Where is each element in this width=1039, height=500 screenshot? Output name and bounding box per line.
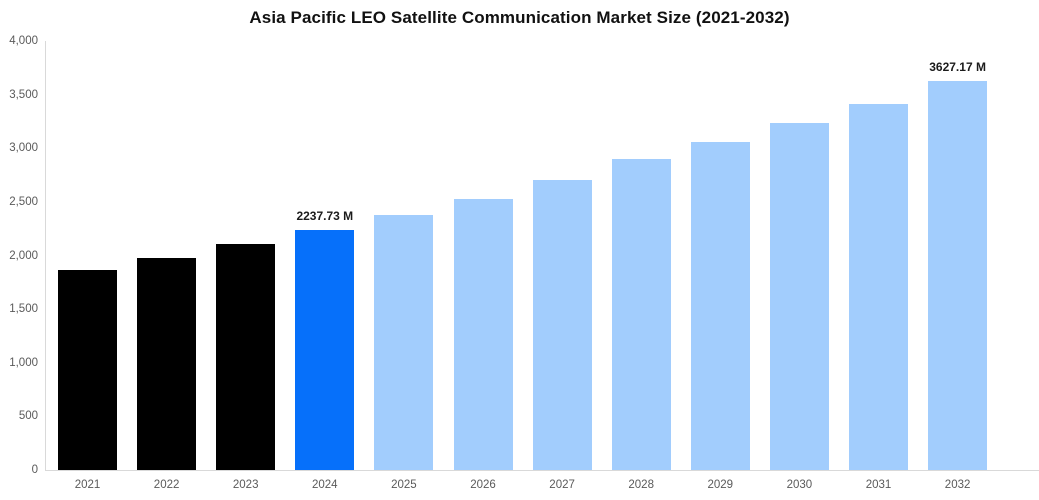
x-axis-label-2032: 2032 [928, 479, 987, 491]
bar-2024[interactable] [295, 230, 354, 470]
x-axis-label-2028: 2028 [612, 479, 671, 491]
y-axis-tick-label: 1,500 [0, 303, 38, 315]
y-axis-tick-label: 3,500 [0, 89, 38, 101]
x-axis-label-2025: 2025 [374, 479, 433, 491]
value-label-2024: 2237.73 M [265, 209, 385, 223]
x-axis-label-2021: 2021 [58, 479, 117, 491]
y-axis-tick-label: 2,000 [0, 250, 38, 262]
bar-2026[interactable] [454, 199, 513, 470]
plot-area [45, 41, 1039, 470]
x-axis-label-2023: 2023 [216, 479, 275, 491]
bar-2027[interactable] [533, 180, 592, 470]
y-axis-tick-label: 1,000 [0, 357, 38, 369]
chart-title: Asia Pacific LEO Satellite Communication… [0, 8, 1039, 28]
x-axis-label-2029: 2029 [691, 479, 750, 491]
bar-2031[interactable] [849, 104, 908, 470]
x-axis-label-2024: 2024 [295, 479, 354, 491]
y-axis-tick-label: 0 [0, 464, 38, 476]
bar-2023[interactable] [216, 244, 275, 470]
bar-2022[interactable] [137, 258, 196, 470]
bar-2029[interactable] [691, 142, 750, 470]
bar-2032[interactable] [928, 81, 987, 470]
x-axis-label-2026: 2026 [454, 479, 513, 491]
y-axis-tick-label: 4,000 [0, 35, 38, 47]
bar-2025[interactable] [374, 215, 433, 470]
y-axis-tick-label: 2,500 [0, 196, 38, 208]
bar-2028[interactable] [612, 159, 671, 470]
value-label-2032: 3627.17 M [898, 60, 1018, 74]
y-axis-tick-label: 500 [0, 410, 38, 422]
bar-chart: Asia Pacific LEO Satellite Communication… [0, 0, 1039, 500]
y-axis-tick-label: 3,000 [0, 142, 38, 154]
bar-2021[interactable] [58, 270, 117, 470]
bar-2030[interactable] [770, 123, 829, 470]
x-axis-label-2030: 2030 [770, 479, 829, 491]
x-axis-label-2031: 2031 [849, 479, 908, 491]
x-axis-label-2027: 2027 [533, 479, 592, 491]
x-axis-line [45, 470, 1039, 471]
x-axis-label-2022: 2022 [137, 479, 196, 491]
